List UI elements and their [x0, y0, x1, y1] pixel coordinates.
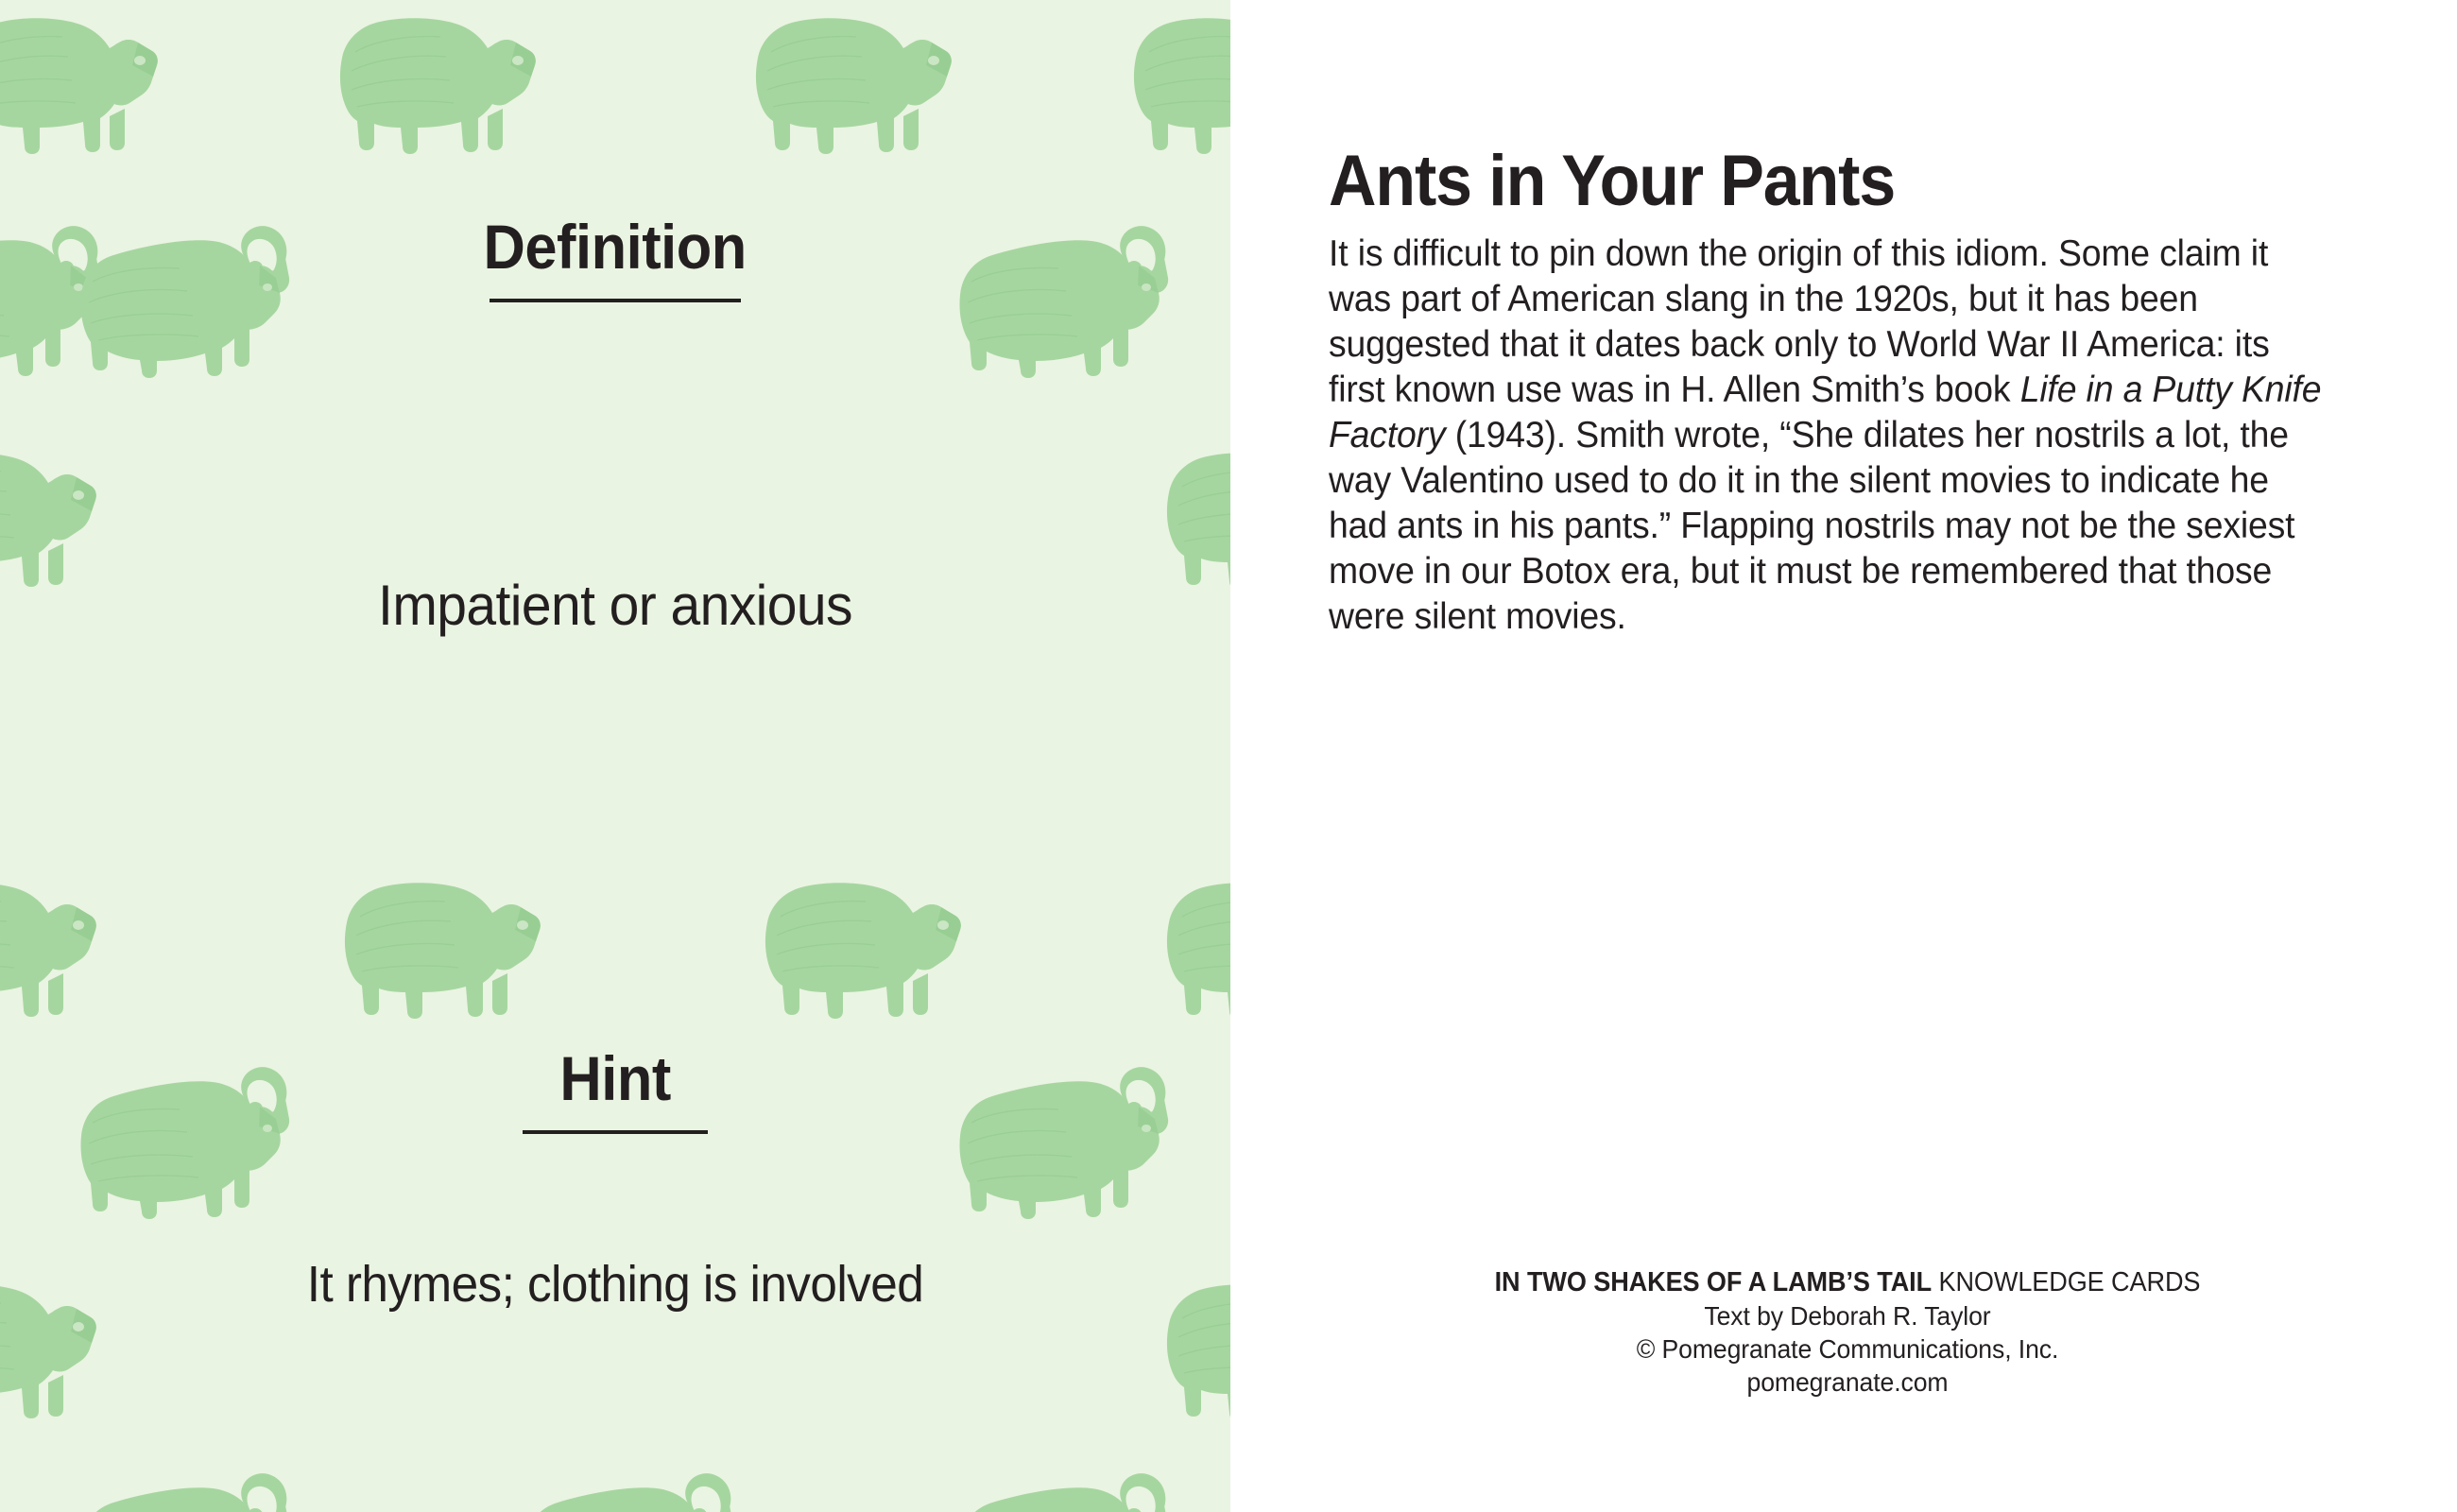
knowledge-card: Definition Impatient or anxious Hint It …: [0, 0, 2457, 1512]
card-body-text: It is difficult to pin down the origin o…: [1329, 232, 2335, 640]
credit-website: pomegranate.com: [1354, 1366, 2340, 1399]
credit-author: Text by Deborah R. Taylor: [1354, 1299, 2340, 1332]
credit-series-name: IN TWO SHAKES OF A LAMB’S TAIL: [1495, 1267, 1932, 1297]
definition-section-header: Definition: [0, 215, 1230, 302]
credit-copyright: © Pomegranate Communications, Inc.: [1354, 1332, 2340, 1366]
card-credits-block: IN TWO SHAKES OF A LAMB’S TAIL KNOWLEDGE…: [1354, 1266, 2340, 1399]
hint-answer-text: It rhymes; clothing is involved: [31, 1257, 1200, 1313]
credit-series-suffix: KNOWLEDGE CARDS: [1932, 1267, 2200, 1297]
hint-section-header: Hint: [0, 1047, 1230, 1134]
credit-series-line: IN TWO SHAKES OF A LAMB’S TAIL KNOWLEDGE…: [1354, 1266, 2340, 1299]
card-front-content: Definition Impatient or anxious Hint It …: [0, 0, 1230, 1512]
hint-heading-rule: [523, 1130, 708, 1134]
body-text-after-title: (1943). Smith wrote, “She dilates her no…: [1329, 415, 2294, 637]
definition-heading: Definition: [484, 215, 747, 278]
definition-heading-rule: [490, 299, 741, 302]
card-front-panel: Definition Impatient or anxious Hint It …: [0, 0, 1230, 1512]
definition-answer-text: Impatient or anxious: [31, 575, 1200, 637]
card-title: Ants in Your Pants: [1329, 146, 1895, 217]
hint-heading: Hint: [559, 1047, 670, 1109]
card-back-panel: Ants in Your Pants It is difficult to pi…: [1230, 0, 2457, 1512]
